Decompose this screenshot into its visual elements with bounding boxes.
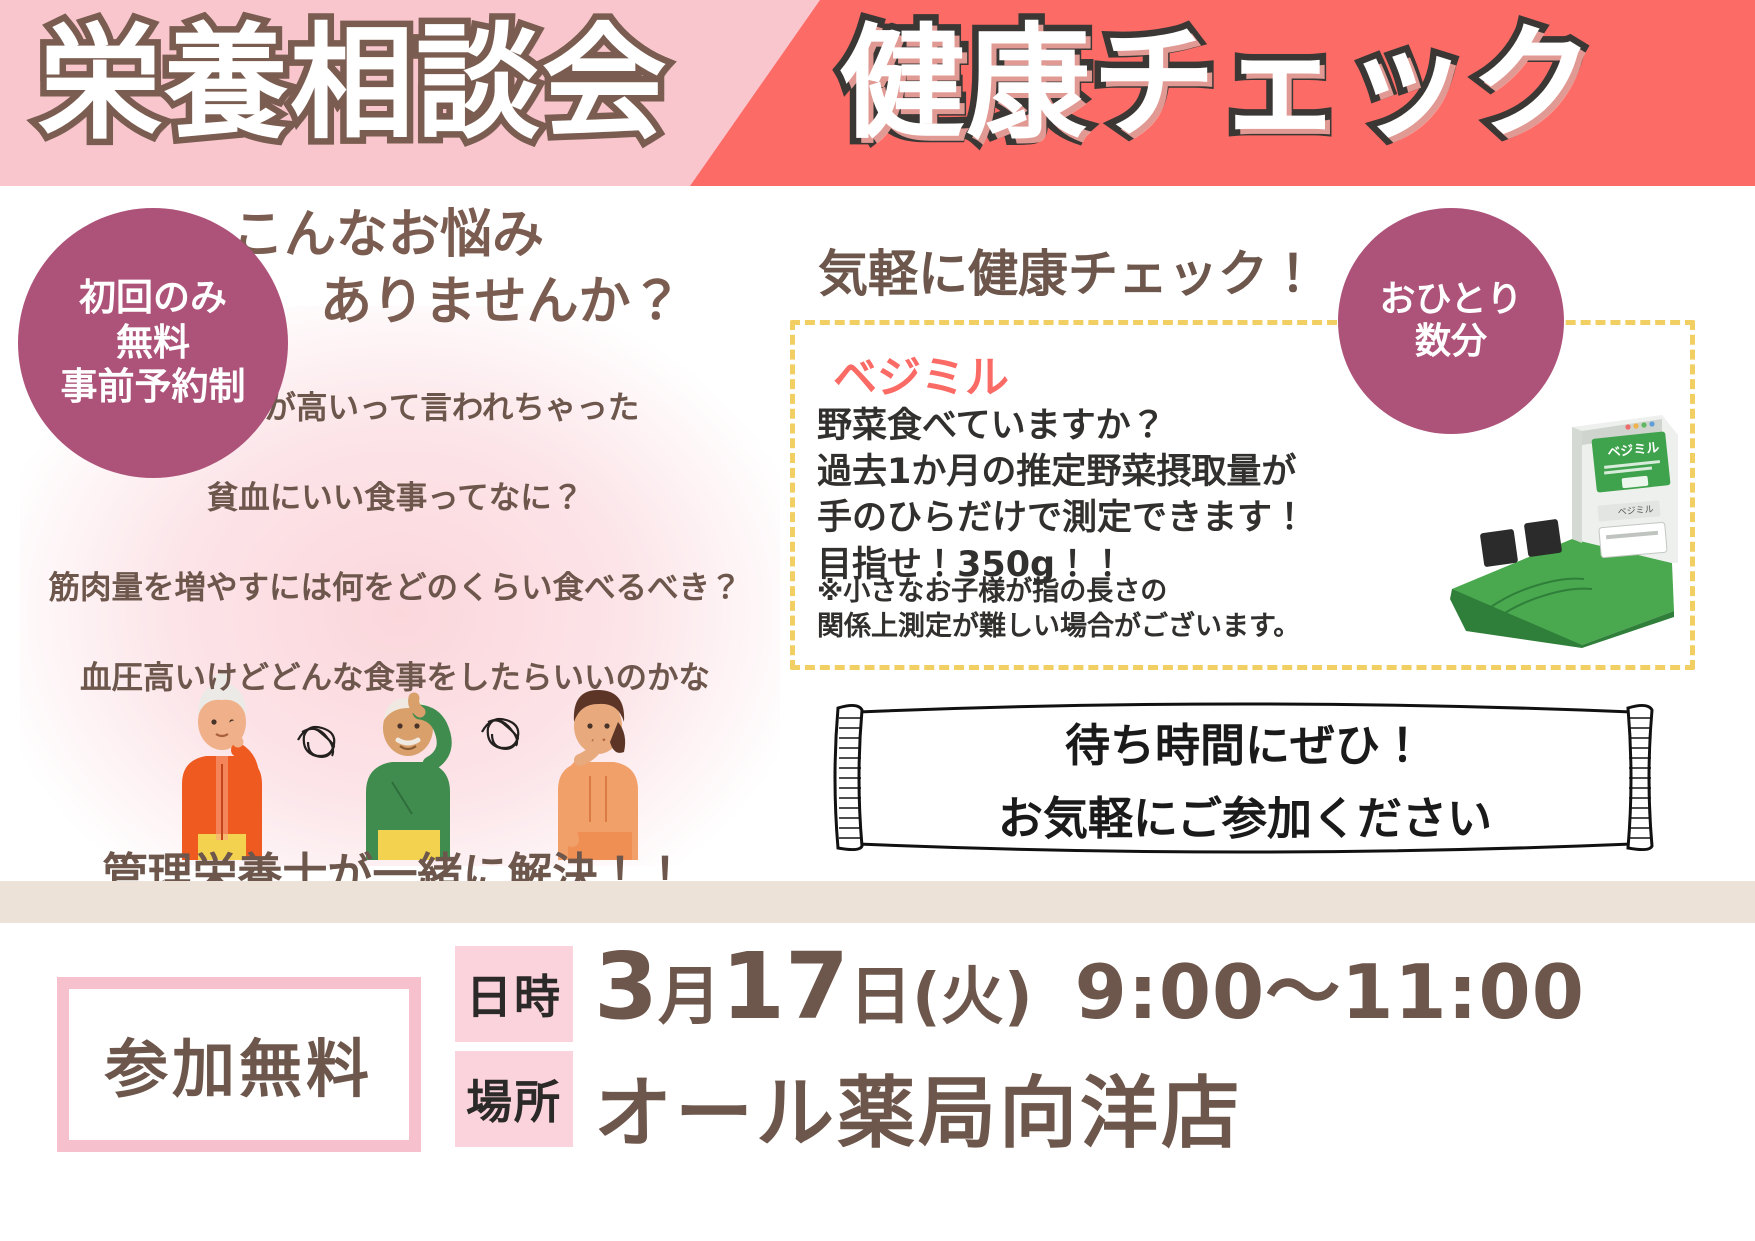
event-time: 9:00〜11:00	[1075, 955, 1585, 1030]
date-value: 3 月 17 日(火) 9:00〜11:00	[594, 941, 1585, 1033]
right-column: 気軽に健康チェック！ おひとり 数分 ベジミル 野菜食べていますか？ 過去1か月…	[790, 186, 1755, 881]
badge-right-line1: おひとり	[1380, 281, 1523, 319]
poster-header: 栄養相談会 健康チェック	[0, 0, 1755, 186]
vegemil-note: ※小さなお子様が指の長さの 関係上測定が難しい場合がございます。	[817, 575, 1437, 644]
badge-right-line2: 数分	[1415, 323, 1487, 361]
device-svg: ベジミル ベジミル	[1422, 413, 1682, 648]
badge-left-line3: 事前予約制	[61, 368, 246, 407]
vegemil-body-line: 手のひらだけで測定できます！	[817, 495, 1357, 541]
place-label: 場所	[455, 1051, 573, 1147]
date-day-number: 17	[721, 941, 849, 1033]
scroll-banner: 待ち時間にぜひ！ お気軽にご参加ください	[830, 698, 1660, 858]
vegemil-title: ベジミル	[833, 341, 1009, 405]
list-item: 筋肉量を増やすには何をどのくらい食べるべき？	[0, 562, 790, 608]
list-item: 血圧高いけどどんな食事をしたらいいのかな	[0, 652, 790, 698]
badge-first-time-free: 初回のみ 無料 事前予約制	[18, 208, 288, 478]
vegemil-device-photo: ベジミル ベジミル	[1422, 413, 1682, 648]
vegemil-note-line: 関係上測定が難しい場合がございます。	[817, 610, 1437, 645]
vegemil-note-line: ※小さなお子様が指の長さの	[817, 575, 1437, 610]
left-tagline: 管理栄養士が一緒に解決！！	[0, 838, 790, 881]
left-column: 初回のみ 無料 事前予約制 こんなお悩み ありませんか？ HbA1cが高いって言…	[0, 186, 790, 881]
vegemil-body: 野菜食べていますか？ 過去1か月の推定野菜摂取量が 手のひらだけで測定できます！…	[817, 403, 1357, 588]
badge-left-line1: 初回のみ	[79, 279, 227, 318]
list-item: 貧血にいい食事ってなに？	[0, 472, 790, 518]
poster-root: 栄養相談会 健康チェック 初回のみ 無料 事前予約制 こんなお悩み ありませんか…	[0, 0, 1755, 1241]
place-value: オール薬局向洋店	[594, 1051, 1242, 1163]
header-title-right: 健康チェック	[840, 22, 1596, 146]
date-month-kanji: 月	[658, 965, 721, 1028]
free-participation-box: 参加無料	[57, 977, 421, 1152]
vegemil-info-box: ベジミル 野菜食べていますか？ 過去1か月の推定野菜摂取量が 手のひらだけで測定…	[790, 320, 1695, 670]
badge-left-line2: 無料	[116, 324, 190, 363]
poster-footer: 参加無料 日時 場所 3 月 17 日(火) 9:00〜11:00 オール薬局向…	[0, 923, 1755, 1241]
scroll-line-1: 待ち時間にぜひ！	[1065, 709, 1425, 774]
badge-few-minutes: おひとり 数分	[1338, 208, 1564, 434]
date-label: 日時	[455, 946, 573, 1042]
free-participation-label: 参加無料	[105, 1019, 373, 1110]
lead-line-1: こんなお悩み	[232, 205, 544, 265]
section-divider	[0, 881, 1755, 923]
vegemil-body-line: 過去1か月の推定野菜摂取量が	[817, 449, 1357, 495]
scroll-banner-text: 待ち時間にぜひ！ お気軽にご参加ください	[830, 698, 1660, 858]
left-lead-heading: こんなお悩み ありませんか？	[232, 202, 682, 335]
date-day-kanji: 日(火)	[849, 965, 1033, 1028]
right-heading: 気軽に健康チェック！	[818, 234, 1318, 306]
scroll-line-2: お気軽にご参加ください	[998, 782, 1492, 847]
date-month-number: 3	[594, 941, 658, 1033]
header-title-left: 栄養相談会	[38, 22, 668, 146]
lead-line-2: ありませんか？	[232, 269, 682, 336]
vegemil-body-line: 野菜食べていますか？	[817, 403, 1357, 449]
